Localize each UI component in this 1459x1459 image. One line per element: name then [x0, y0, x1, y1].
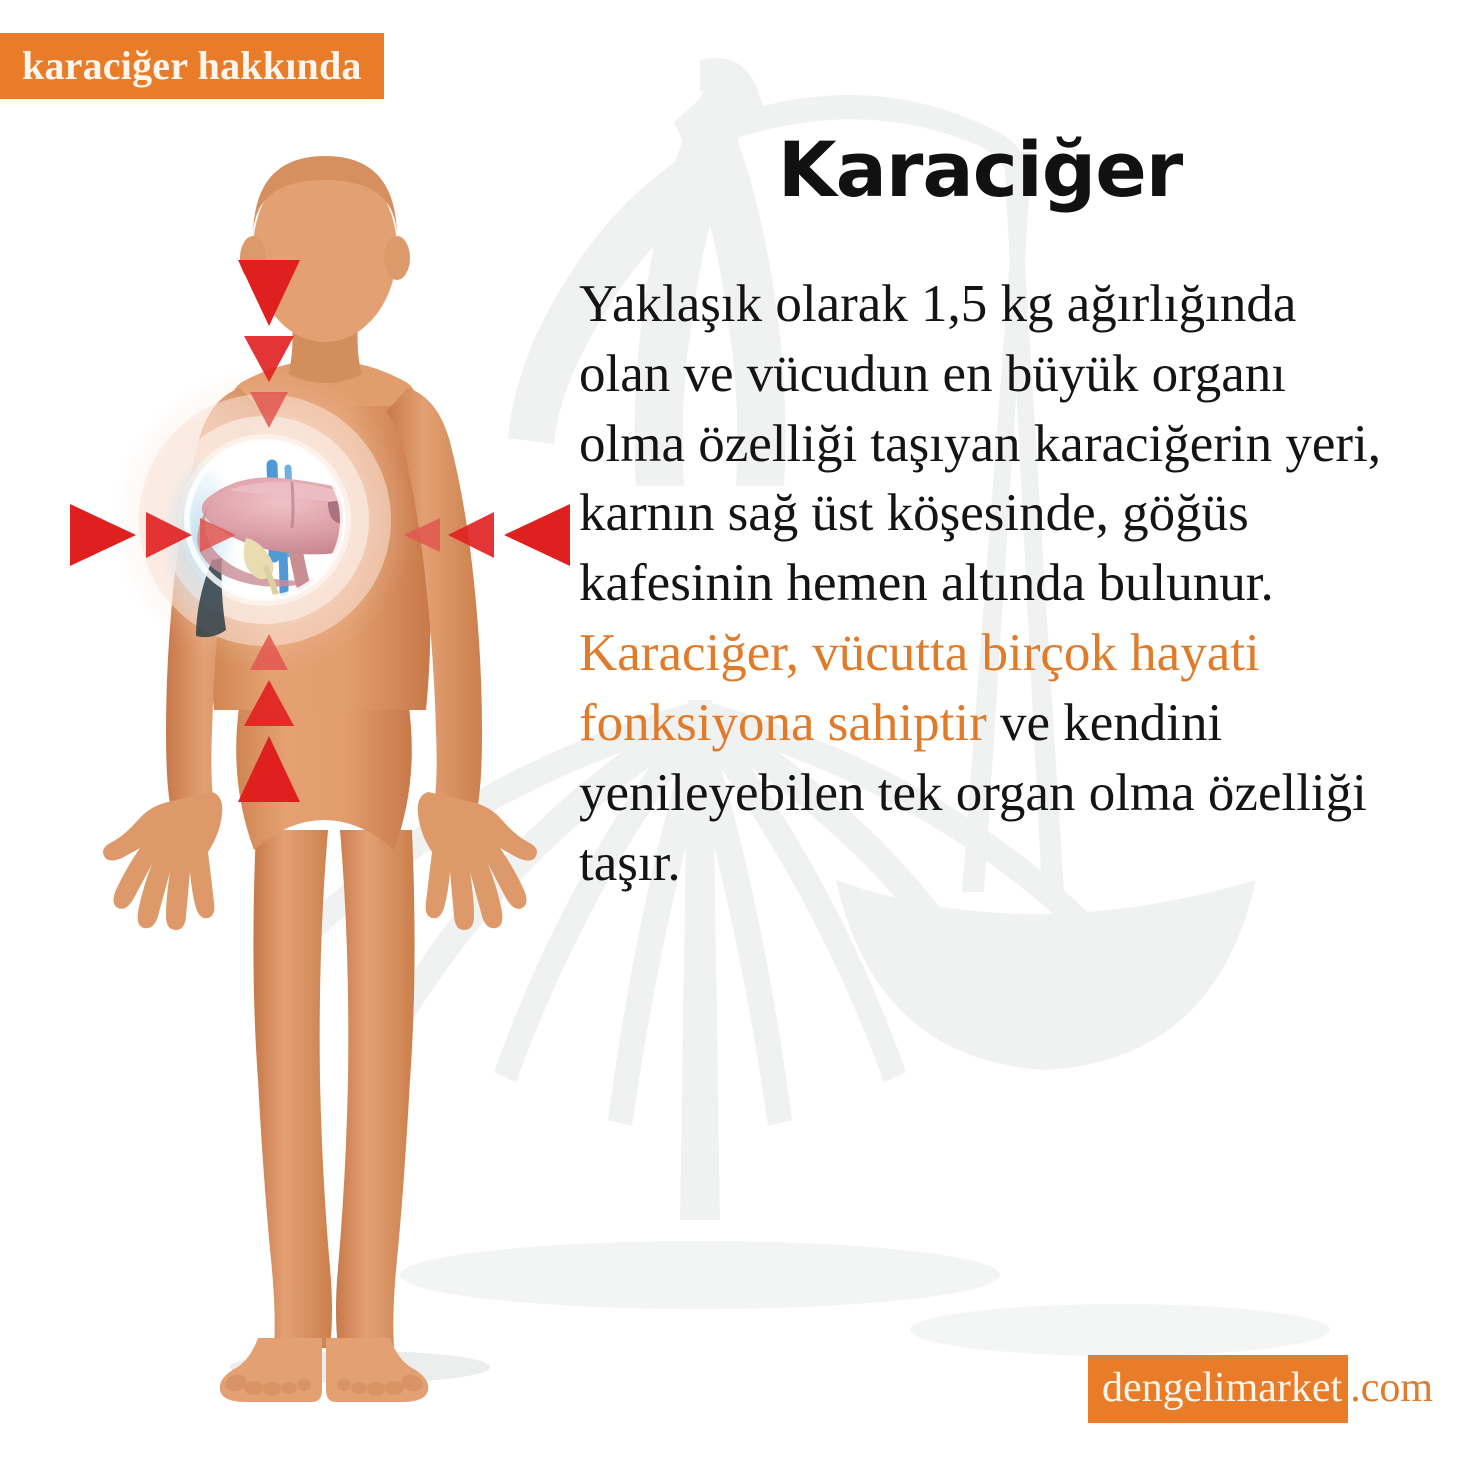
header-banner-label: karaciğer hakkında — [22, 46, 362, 86]
content-column: Karaciğer Yaklaşık olarak 1,5 kg ağırlığ… — [565, 128, 1395, 899]
page-title: Karaciğer — [565, 128, 1395, 212]
infographic-page: karaciğer hakkında — [0, 0, 1459, 1459]
site-logo-brand: dengelimarket — [1088, 1355, 1348, 1423]
body-copy: Yaklaşık olarak 1,5 kg ağırlığında olan … — [565, 270, 1395, 900]
body-text-part-1: Yaklaşık olarak 1,5 kg ağırlığında olan … — [579, 275, 1381, 613]
header-banner: karaciğer hakkında — [0, 33, 384, 99]
site-logo[interactable]: dengelimarket.com — [1088, 1355, 1441, 1423]
human-body-liver-illustration — [60, 130, 580, 1430]
body-silhouette — [103, 156, 537, 1402]
site-logo-tld: .com — [1348, 1355, 1441, 1423]
